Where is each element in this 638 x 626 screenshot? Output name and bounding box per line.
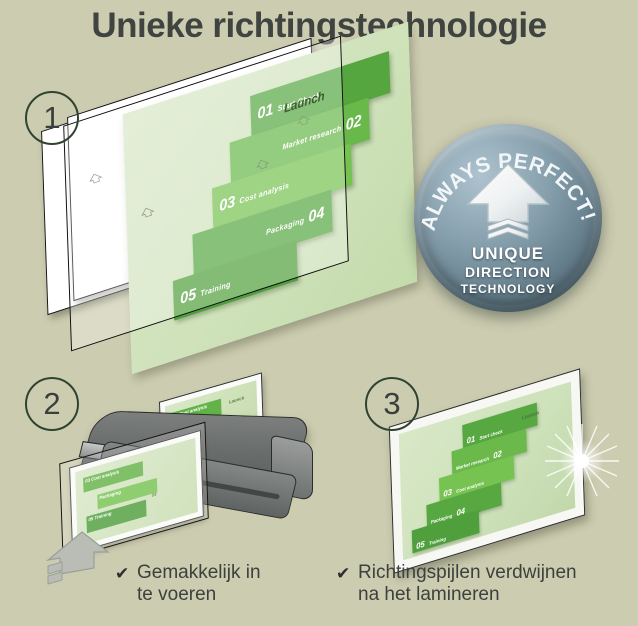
badge-line-unique: UNIQUE: [414, 244, 602, 264]
caption-step-2: ✔ Gemakkelijk in te voeren: [137, 562, 337, 606]
infographic-canvas: Unieke richtingstechnologie 01 Start Che…: [0, 0, 638, 626]
step-number-3: 3: [365, 377, 419, 431]
caption-step-3-line-2: na het lamineren: [358, 584, 628, 606]
page-title: Unieke richtingstechnologie: [0, 6, 638, 46]
caption-step-2-line-1: Gemakkelijk in: [137, 562, 337, 584]
badge-line-direction: DIRECTION: [414, 264, 602, 280]
step-number-1: 1: [25, 91, 79, 145]
check-icon: ✔: [115, 563, 129, 585]
caption-step-3-line-1: Richtingspijlen verdwijnen: [358, 562, 628, 584]
mini-launch-label: Launch: [227, 391, 254, 408]
badge-line-technology: TECHNOLOGY: [414, 282, 602, 296]
arrow-up-icon: [464, 162, 552, 244]
sparkle-shine-icon: [543, 422, 621, 500]
always-perfect-badge: ALWAYS PERFECT! UNIQUE DIRECTION TECHNOL…: [414, 124, 602, 312]
check-icon: ✔: [336, 563, 350, 585]
doc-bar-02-number: 02: [345, 112, 361, 135]
arrow-up-right-icon: [42, 528, 120, 590]
step-number-2: 2: [25, 377, 79, 431]
caption-step-2-line-2: te voeren: [137, 584, 337, 606]
caption-step-3: ✔ Richtingspijlen verdwijnen na het lami…: [358, 562, 628, 606]
